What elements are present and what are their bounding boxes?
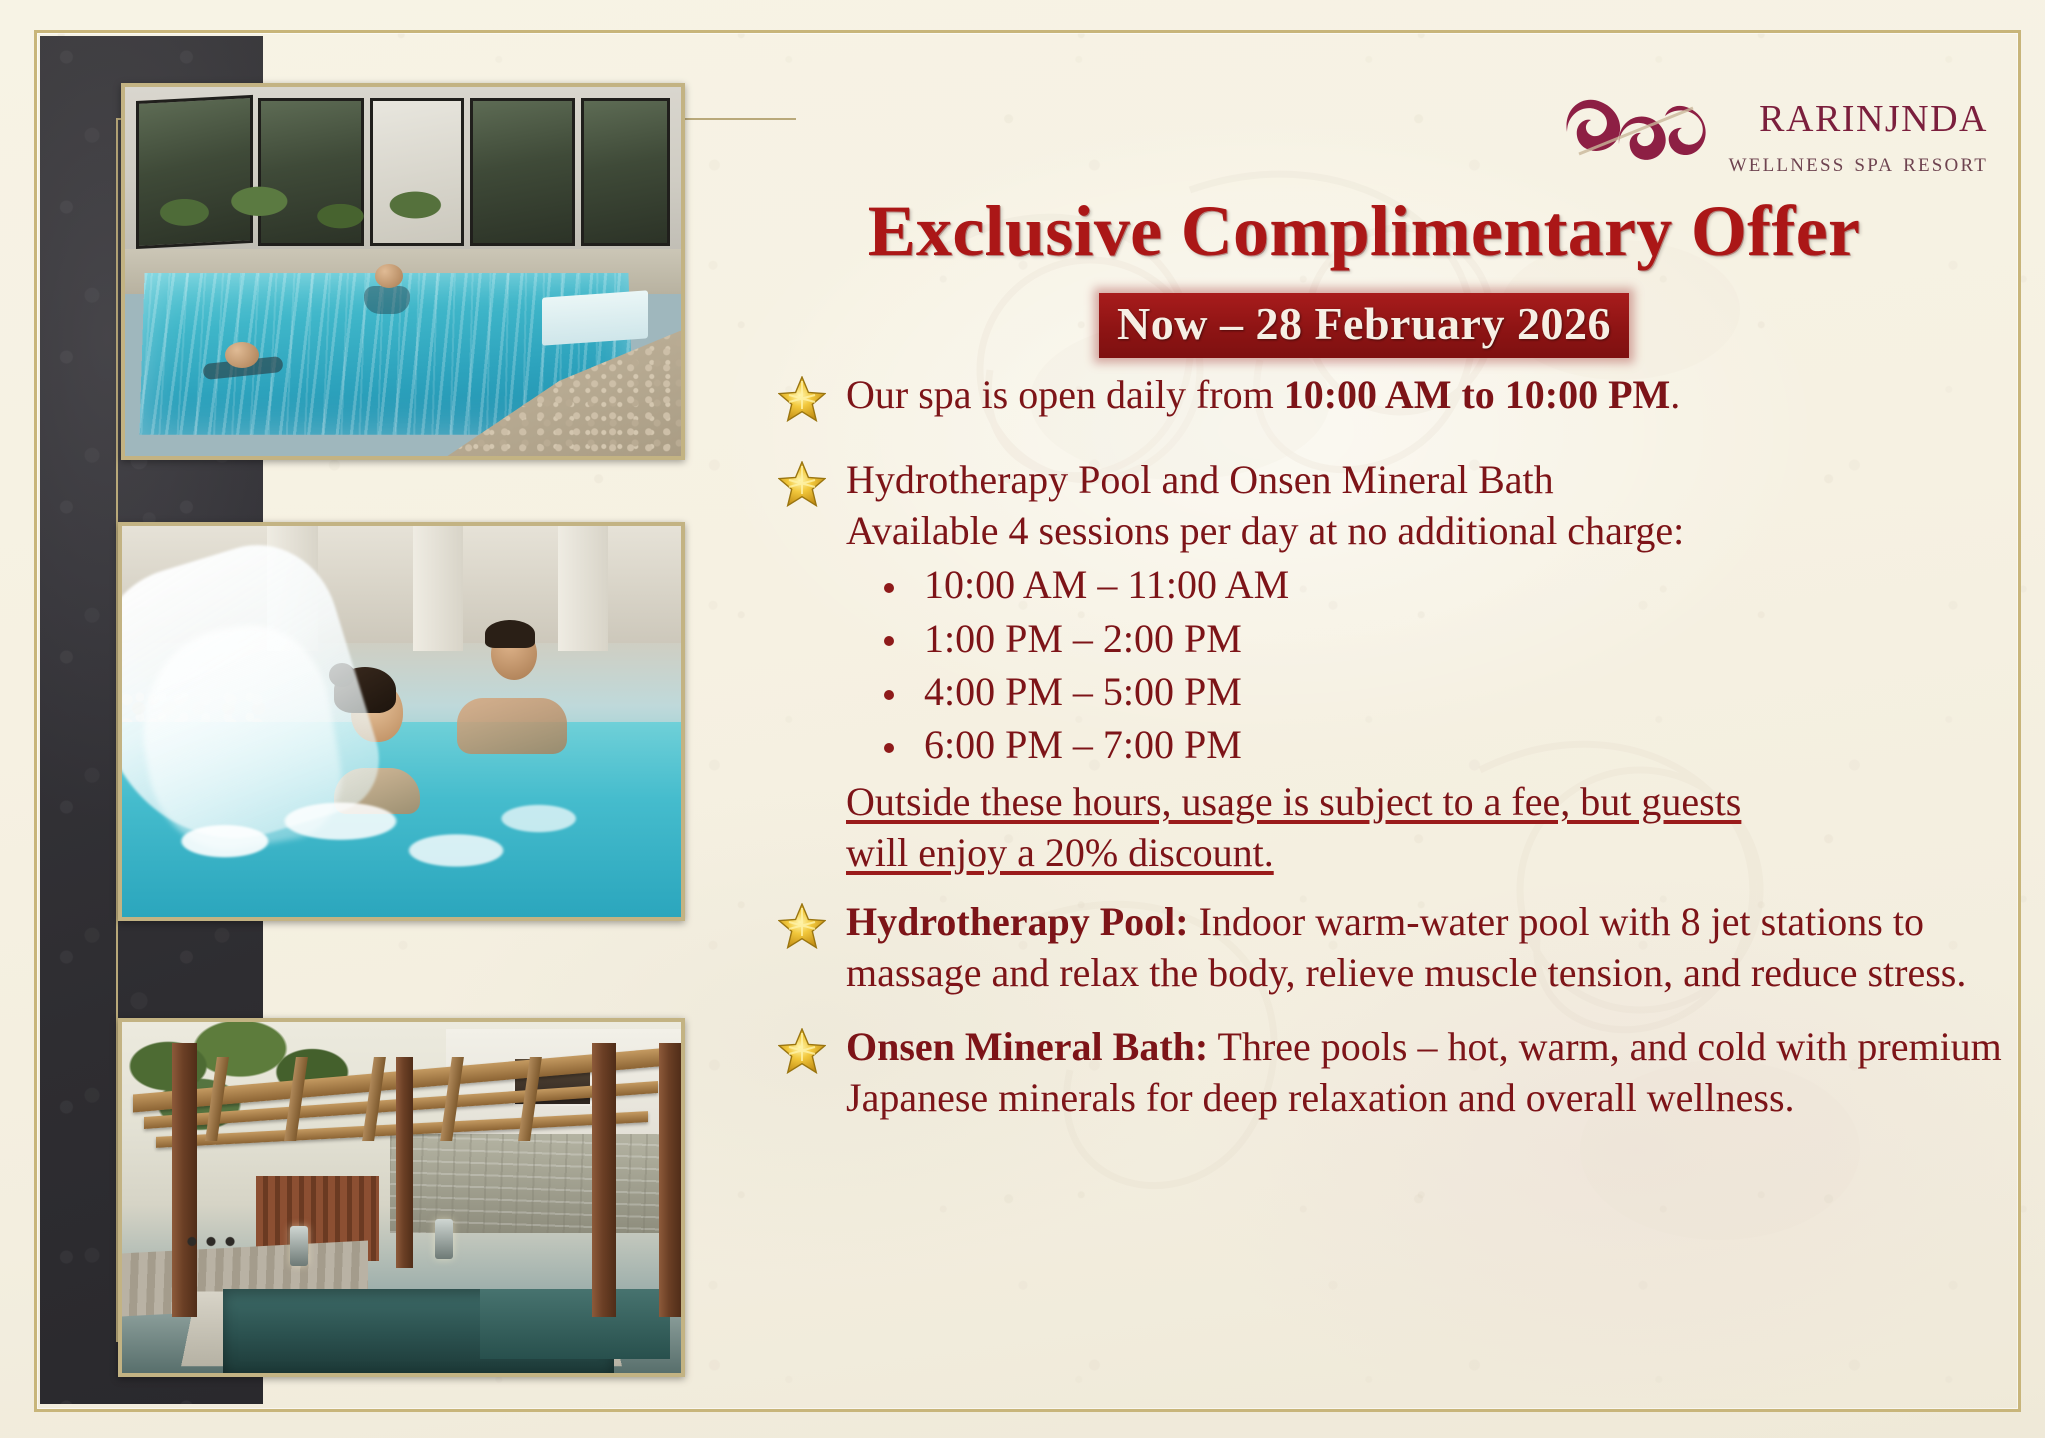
sessions-line-1: Hydrotherapy Pool and Onsen Mineral Bath (846, 455, 2011, 506)
session-time-item: 4:00 PM – 5:00 PM (846, 665, 2011, 718)
brand-tagline: WELLNESS SPA RESORT (1729, 147, 1988, 178)
gold-star-icon (778, 461, 826, 507)
session-time-item: 1:00 PM – 2:00 PM (846, 612, 2011, 665)
page-title: Exclusive Complimentary Offer (740, 190, 1988, 273)
indoor-hydrotherapy-pool-photo (121, 83, 685, 460)
bullet-onsen-mineral-bath: Onsen Mineral Bath: Three pools – hot, w… (756, 1022, 2011, 1124)
waterfall-jet-pool-photo (118, 522, 685, 921)
outdoor-onsen-pergola-photo (118, 1018, 685, 1377)
sessions-line-2: Available 4 sessions per day at no addit… (846, 506, 2011, 557)
onsen-label: Onsen Mineral Bath: (846, 1024, 1208, 1069)
opening-hours-text-before: Our spa is open daily from (846, 372, 1284, 417)
outside-hours-note-line-1: Outside these hours, usage is subject to… (846, 777, 2011, 828)
session-times-list: 10:00 AM – 11:00 AM 1:00 PM – 2:00 PM 4:… (846, 558, 2011, 771)
content-column: RARINJNDA WELLNESS SPA RESORT Exclusive … (740, 40, 2010, 1395)
hydrotherapy-label: Hydrotherapy Pool: (846, 899, 1189, 944)
gold-star-icon (778, 376, 826, 422)
opening-hours-times: 10:00 AM to 10:00 PM (1284, 372, 1671, 417)
bullet-hydrotherapy-pool: Hydrotherapy Pool: Indoor warm-water poo… (756, 897, 2011, 999)
flyer-page: RARINJNDA WELLNESS SPA RESORT Exclusive … (0, 0, 2045, 1438)
brand-logo: RARINJNDA WELLNESS SPA RESORT (1561, 82, 1988, 182)
outside-hours-note-line-2: will enjoy a 20% discount. (846, 828, 2011, 879)
bullet-opening-hours: Our spa is open daily from 10:00 AM to 1… (756, 370, 2011, 421)
offer-period-badge: Now – 28 February 2026 (1099, 293, 1629, 358)
session-time-item: 6:00 PM – 7:00 PM (846, 718, 2011, 771)
brand-name: RARINJNDA (1759, 86, 1988, 140)
offer-details-list: Our spa is open daily from 10:00 AM to 1… (756, 370, 2011, 1148)
opening-hours-text-after: . (1670, 372, 1680, 417)
bullet-sessions: Hydrotherapy Pool and Onsen Mineral Bath… (756, 455, 2011, 879)
gold-star-icon (778, 903, 826, 949)
gold-star-icon (778, 1028, 826, 1074)
offer-period-wrap: Now – 28 February 2026 (740, 293, 1988, 358)
swirl-ornament-icon (1561, 82, 1713, 182)
session-time-item: 10:00 AM – 11:00 AM (846, 558, 2011, 611)
outside-hours-note: Outside these hours, usage is subject to… (846, 777, 2011, 879)
